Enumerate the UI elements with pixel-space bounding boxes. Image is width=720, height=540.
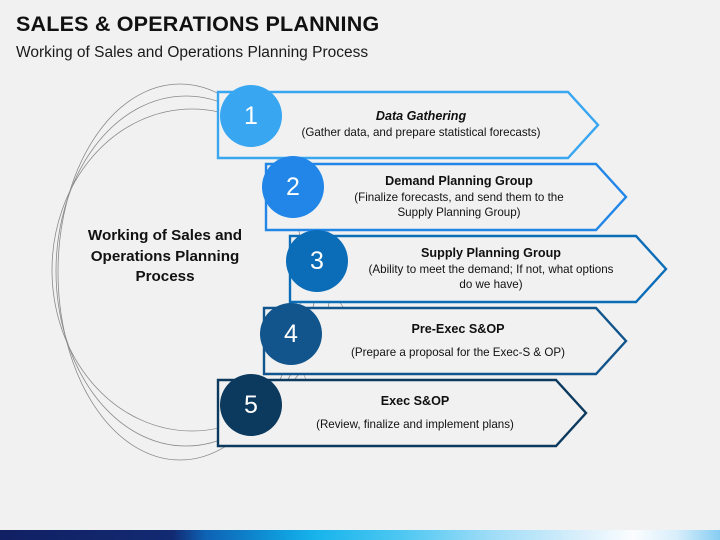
step-number-circle[interactable]: 3 — [286, 230, 348, 292]
step-number: 2 — [286, 175, 300, 200]
step-title: Pre-Exec S&OP — [411, 322, 504, 337]
step-subtitle: (Ability to meet the demand; If not, wha… — [366, 263, 616, 292]
center-label: Working of Sales and Operations Planning… — [72, 226, 258, 288]
step-number-circle[interactable]: 2 — [262, 156, 324, 218]
slide-header: SALES & OPERATIONS PLANNING Working of S… — [16, 12, 576, 63]
step-subtitle: (Prepare a proposal for the Exec-S & OP) — [351, 346, 565, 361]
process-step-row[interactable]: Demand Planning Group (Finalize forecast… — [264, 162, 628, 232]
step-subtitle: (Gather data, and prepare statistical fo… — [301, 126, 540, 141]
process-step-row[interactable]: Supply Planning Group (Ability to meet t… — [288, 234, 668, 304]
process-step-row[interactable]: Pre-Exec S&OP (Prepare a proposal for th… — [262, 306, 628, 376]
step-title: Demand Planning Group — [385, 174, 533, 189]
step-number-circle[interactable]: 4 — [260, 303, 322, 365]
step-number: 4 — [284, 322, 298, 347]
step-number-circle[interactable]: 1 — [220, 85, 282, 147]
page-subtitle: Working of Sales and Operations Planning… — [16, 43, 376, 63]
step-title: Supply Planning Group — [421, 246, 561, 261]
step-title: Data Gathering — [376, 109, 466, 124]
process-step-row[interactable]: Exec S&OP (Review, finalize and implemen… — [216, 378, 588, 448]
process-diagram: Working of Sales and Operations Planning… — [0, 82, 720, 472]
step-subtitle: (Review, finalize and implement plans) — [316, 418, 514, 433]
step-title: Exec S&OP — [381, 394, 450, 409]
step-subtitle: (Finalize forecasts, and send them to th… — [342, 191, 576, 220]
process-step-row[interactable]: Data Gathering (Gather data, and prepare… — [216, 90, 600, 160]
bottom-accent-bar — [0, 530, 720, 540]
slide-canvas: SALES & OPERATIONS PLANNING Working of S… — [0, 0, 720, 540]
step-number: 3 — [310, 249, 324, 274]
step-number-circle[interactable]: 5 — [220, 374, 282, 436]
step-number: 5 — [244, 393, 258, 418]
page-title: SALES & OPERATIONS PLANNING — [16, 12, 576, 37]
step-number: 1 — [244, 104, 258, 129]
